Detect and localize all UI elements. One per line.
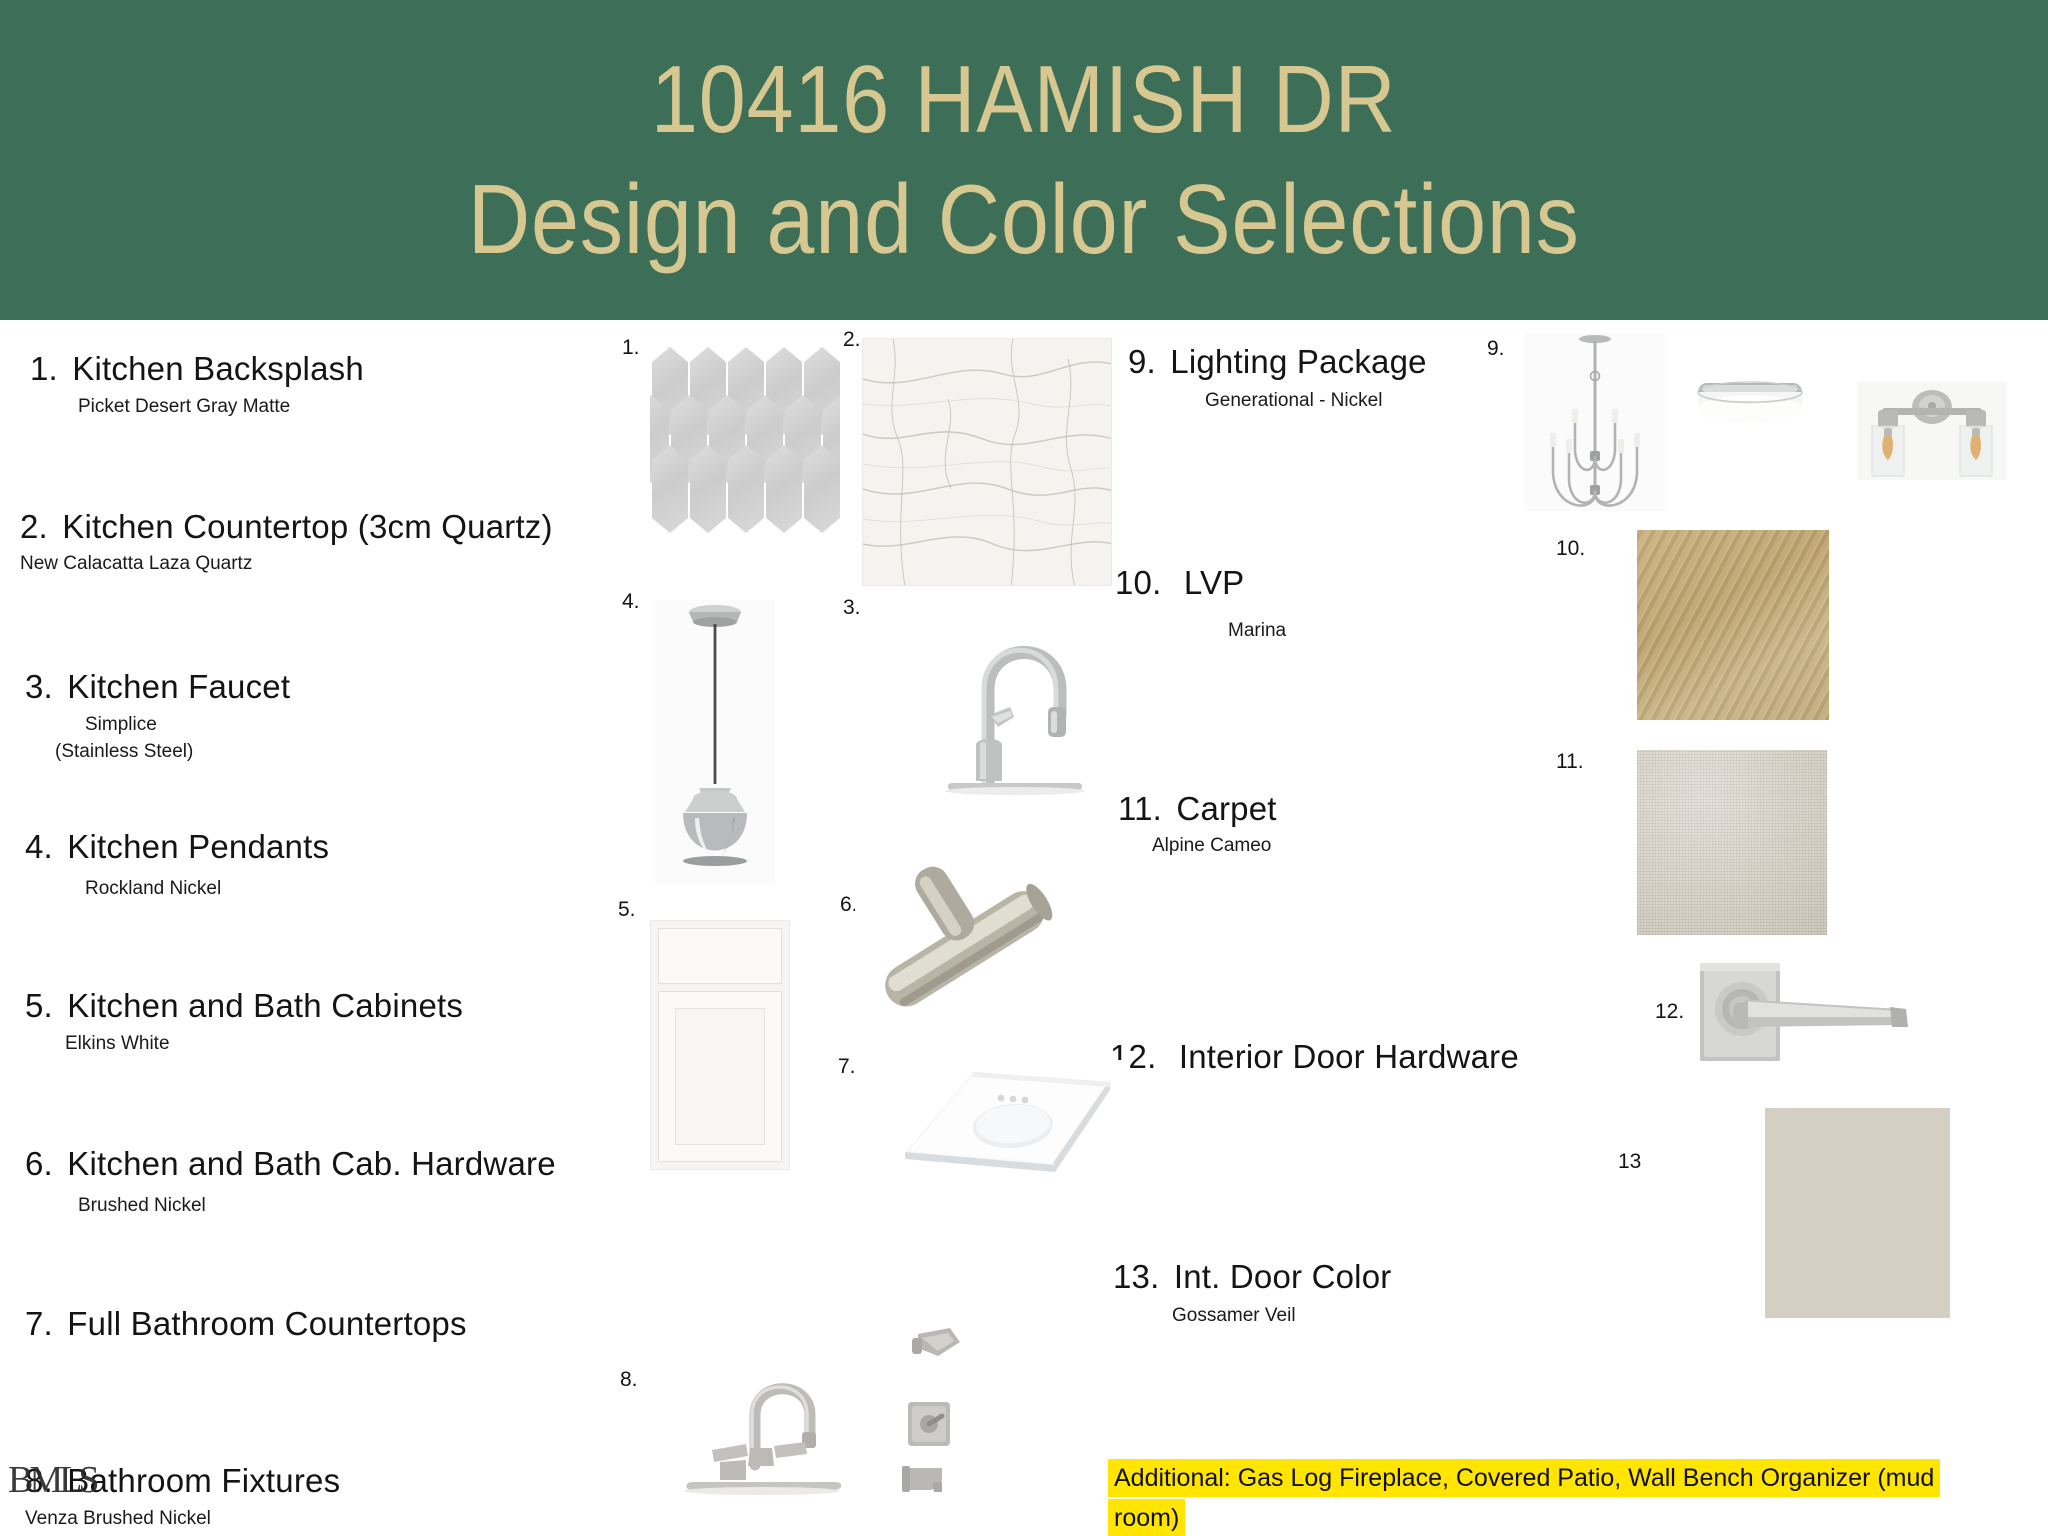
image-number-bath-fixtures: 8. [620, 1368, 638, 1392]
chandelier-image [1525, 333, 1665, 511]
item-10-label: LVP [1184, 564, 1245, 601]
item-6-title: 6. Kitchen and Bath Cab. Hardware [25, 1145, 556, 1183]
item-5-title: 5. Kitchen and Bath Cabinets [25, 987, 463, 1025]
item-13-title: 13. Int. Door Color [1113, 1258, 1391, 1296]
flush-mount-light-image [1692, 365, 1808, 447]
item-9-sub: Generational - Nickel [1205, 390, 1382, 412]
image-number-tile: 1. [622, 336, 640, 360]
item-4-number: 4. [25, 828, 53, 865]
kitchen-pendant-image [655, 600, 775, 885]
item-10-sub: Marina [1228, 620, 1286, 642]
item-1-label: Kitchen Backsplash [72, 350, 364, 387]
mls-watermark: BMLS [8, 1458, 95, 1502]
cabinet-hardware-image [855, 838, 1080, 1053]
additional-notes: Additional: Gas Log Fireplace, Covered P… [1108, 1458, 1938, 1536]
item-11-title: 11. Carpet [1118, 790, 1277, 828]
bathroom-fixtures-image [650, 1320, 1070, 1520]
image-number-cabinet-door: 5. [618, 898, 636, 922]
item-1-title: 1. Kitchen Backsplash [30, 350, 364, 388]
item-12-title: 12. Interior Door Hardware [1110, 1038, 1519, 1076]
additional-notes-text: Additional: Gas Log Fireplace, Covered P… [1108, 1459, 1940, 1536]
item-3-sub-2: (Stainless Steel) [55, 741, 193, 763]
item-9-title: 9. Lighting Package [1128, 343, 1427, 381]
cabinet-door-image [650, 920, 790, 1170]
item-11-sub: Alpine Cameo [1152, 835, 1271, 857]
item-13-label: Int. Door Color [1174, 1258, 1392, 1295]
item-9-label: Lighting Package [1170, 343, 1426, 380]
quartz-countertop-swatch [862, 338, 1112, 586]
item-7-label: Full Bathroom Countertops [67, 1305, 466, 1342]
image-number-carpet: 11. [1556, 750, 1584, 774]
item-3-number: 3. [25, 668, 53, 705]
carpet-swatch [1637, 750, 1827, 935]
item-7-title: 7. Full Bathroom Countertops [25, 1305, 467, 1343]
page-title-line-2: Design and Color Selections [468, 170, 1580, 268]
door-lever-image [1690, 955, 1930, 1085]
lvp-flooring-swatch [1637, 530, 1829, 720]
page-title-line-1: 10416 HAMISH DR [651, 52, 1397, 148]
image-number-door-lever: 12. [1655, 1000, 1684, 1024]
item-1-number: 1. [30, 350, 58, 387]
image-number-lvp: 10. [1556, 537, 1585, 561]
cabinet-door-panel [658, 991, 782, 1162]
item-6-label: Kitchen and Bath Cab. Hardware [67, 1145, 555, 1182]
item-2-label: Kitchen Countertop (3cm Quartz) [62, 508, 552, 545]
door-color-swatch [1765, 1108, 1950, 1318]
kitchen-faucet-image [930, 595, 1115, 800]
item-9-number: 9. [1128, 343, 1156, 380]
item-5-number: 5. [25, 987, 53, 1024]
item-10-number: 10. [1115, 564, 1161, 601]
item-3-label: Kitchen Faucet [67, 668, 290, 705]
image-number-quartz: 2. [843, 328, 861, 352]
item-4-sub: Rockland Nickel [85, 878, 221, 900]
item-1-sub: Picket Desert Gray Matte [78, 396, 290, 418]
vanity-countertop-image [895, 1060, 1130, 1195]
item-2-title: 2. Kitchen Countertop (3cm Quartz) [20, 508, 553, 546]
page-header: 10416 HAMISH DR Design and Color Selecti… [0, 0, 2048, 320]
item-2-sub: New Calacatta Laza Quartz [20, 553, 252, 575]
image-number-door-color: 13 [1618, 1150, 1641, 1174]
image-number-kitchen-faucet: 3. [843, 596, 861, 620]
item-5-sub: Elkins White [65, 1033, 170, 1055]
item-5-label: Kitchen and Bath Cabinets [67, 987, 463, 1024]
image-number-lighting: 9. [1487, 337, 1505, 361]
item-6-number: 6. [25, 1145, 53, 1182]
backsplash-tile-swatch [650, 345, 840, 540]
item-7-number: 7. [25, 1305, 53, 1342]
cabinet-drawer-front [658, 928, 782, 984]
vanity-sconce-image [1858, 382, 2006, 480]
item-4-title: 4. Kitchen Pendants [25, 828, 329, 866]
image-number-pendant: 4. [622, 590, 640, 614]
item-11-number: 11. [1118, 790, 1162, 827]
item-3-title: 3. Kitchen Faucet [25, 668, 290, 706]
item-8-label: Bathroom Fixtures [67, 1462, 340, 1499]
image-number-vanity-top: 7. [838, 1055, 856, 1079]
item-10-title: 10. LVP [1115, 564, 1244, 602]
item-8-sub: Venza Brushed Nickel [25, 1508, 211, 1530]
item-2-number: 2. [20, 508, 48, 545]
item-13-sub: Gossamer Veil [1172, 1305, 1296, 1327]
item-12-label: Interior Door Hardware [1179, 1038, 1519, 1075]
item-3-sub: Simplice [85, 714, 157, 736]
design-selections-page: 10416 HAMISH DR Design and Color Selecti… [0, 0, 2048, 1536]
item-4-label: Kitchen Pendants [67, 828, 329, 865]
item-11-label: Carpet [1176, 790, 1276, 827]
item-13-number: 13. [1113, 1258, 1159, 1295]
item-6-sub: Brushed Nickel [78, 1195, 206, 1217]
